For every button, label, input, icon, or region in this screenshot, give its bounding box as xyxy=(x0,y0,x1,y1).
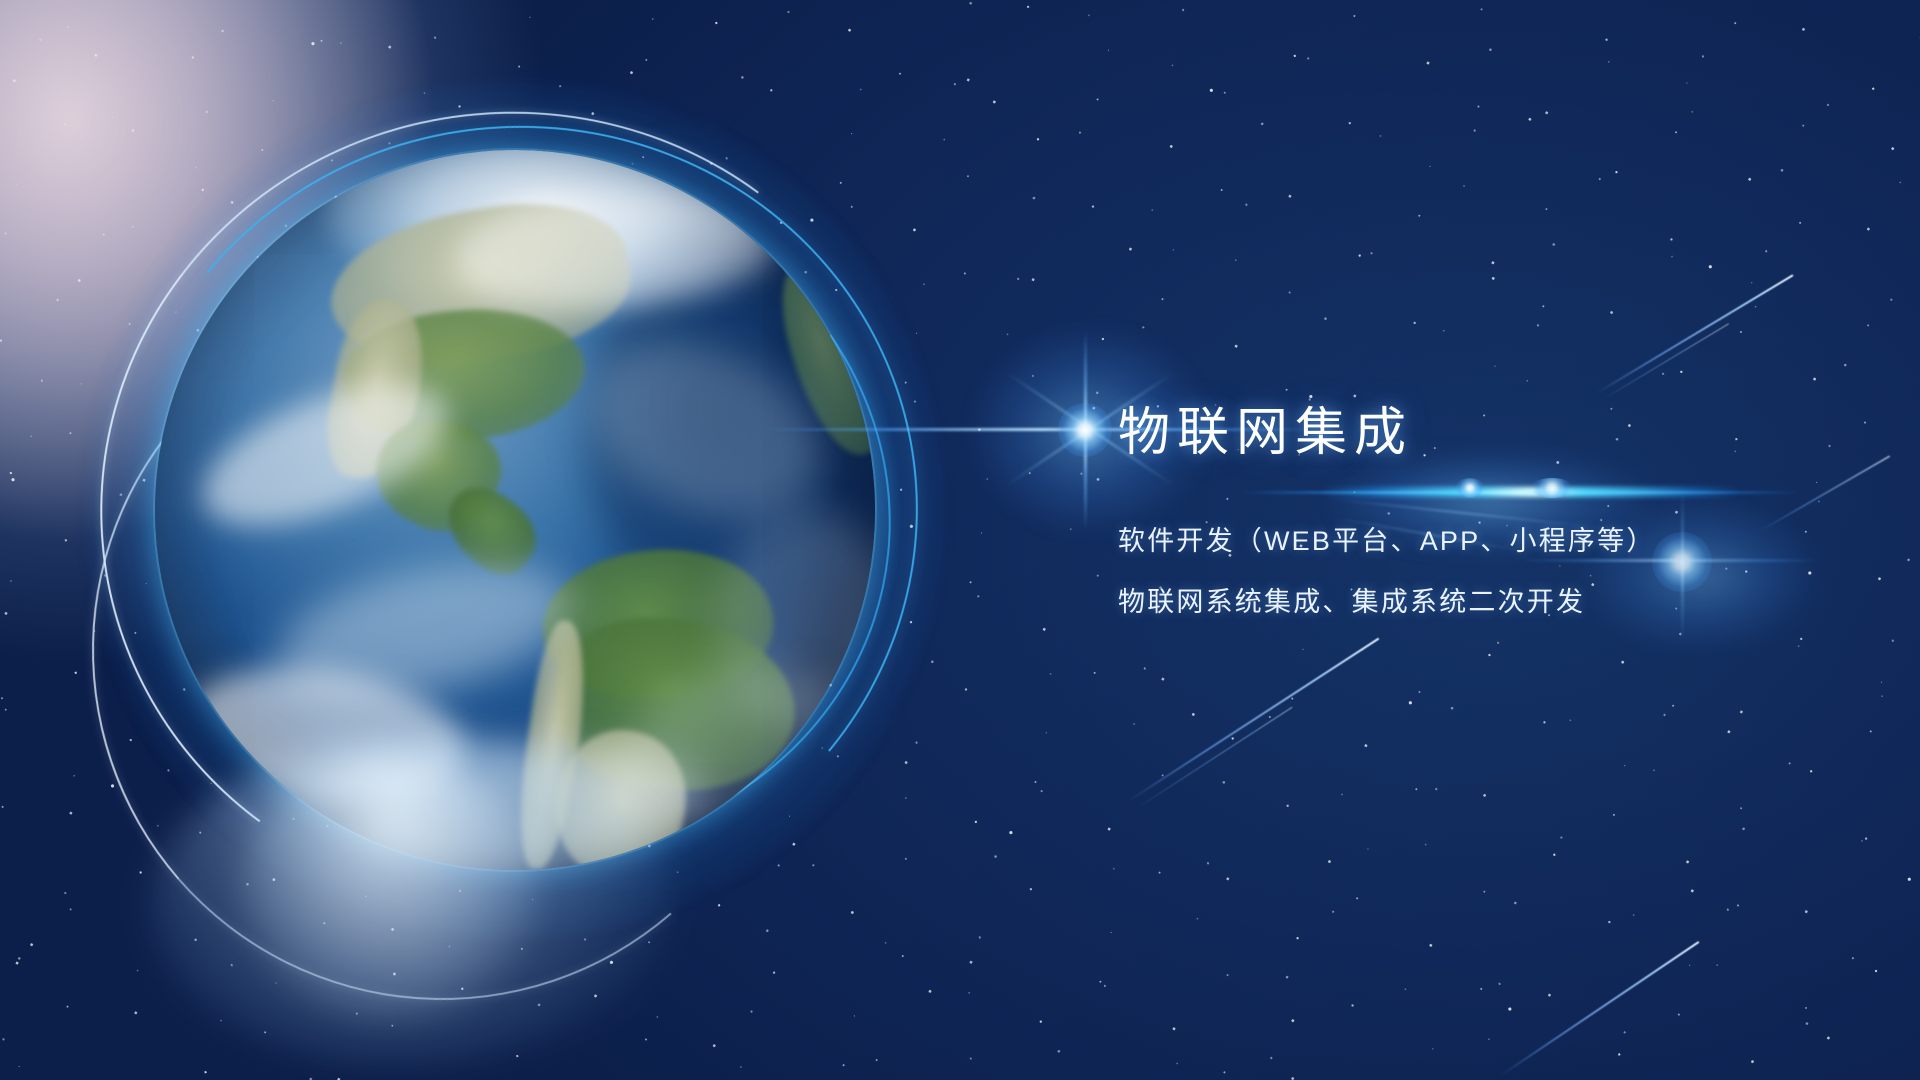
comet-streak-upper-right xyxy=(1595,274,1797,401)
earth-globe xyxy=(155,150,875,870)
subtitle-line-2: 物联网系统集成、集成系统二次开发 xyxy=(1118,580,1838,619)
comet-streak-lower-right xyxy=(1499,941,1699,1077)
page-title: 物联网集成 xyxy=(1118,404,1838,463)
hero-banner: 物联网集成 软件开发（WEB平台、APP、小程序等） 物联网系统集成、集成系统二… xyxy=(0,0,1920,1080)
globe-sphere xyxy=(155,150,875,870)
banner-text-block: 物联网集成 软件开发（WEB平台、APP、小程序等） 物联网系统集成、集成系统二… xyxy=(1118,404,1838,619)
subtitle-line-1: 软件开发（WEB平台、APP、小程序等） xyxy=(1118,519,1838,558)
globe-atmosphere-rim xyxy=(155,150,875,870)
comet-streak-mid-right xyxy=(1127,638,1385,811)
